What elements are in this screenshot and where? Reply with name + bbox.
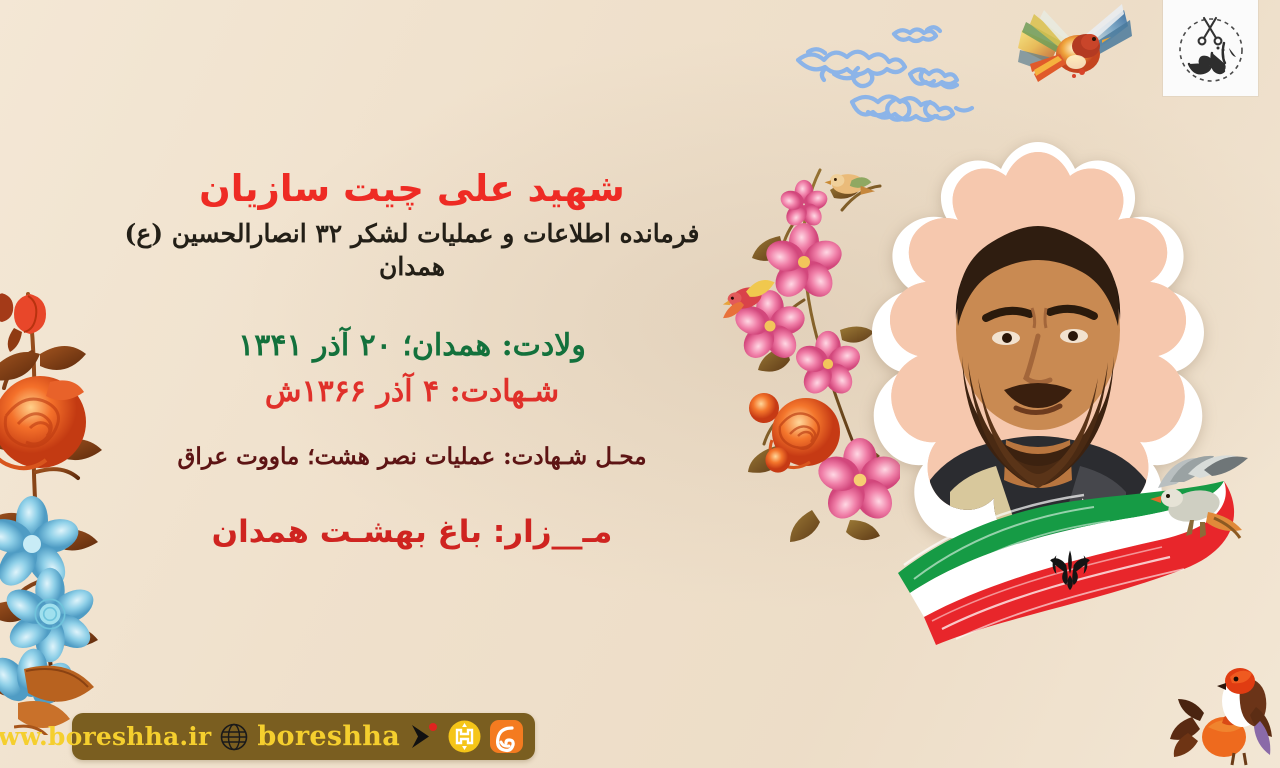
text-block: شهید علی چیت سازیان فرمانده اطلاعات و عم…: [92, 168, 732, 553]
perched-bird-bottom-right-icon: [1168, 655, 1280, 768]
bale-icon[interactable]: [448, 720, 481, 753]
cloud-ornament: [790, 8, 1050, 133]
flag-bird-icon: [1146, 448, 1252, 546]
burial-place-line: مـ__زار: باغ بهشـت همدان: [92, 512, 732, 552]
martyrdom-line: شـهادت: ۴ آذر ۱۳۶۶ش: [92, 372, 732, 412]
martyr-portrait: [838, 140, 1238, 660]
globe-icon: [220, 723, 248, 751]
chevron-play-icon[interactable]: [409, 720, 439, 753]
birth-line: ولادت: همدان؛ ۲۰ آذر ۱۳۴۱: [92, 326, 732, 366]
brand-name: boreshha: [257, 723, 400, 750]
eitaa-icon[interactable]: [490, 720, 523, 753]
place-of-martyrdom-line: محـل شـهادت: عملیات نصر هشت؛ ماووت عراق: [92, 441, 732, 472]
flying-bird-icon: [1012, 2, 1134, 100]
martyr-role: فرمانده اطلاعات و عملیات لشکر ۳۲ انصارال…: [92, 217, 732, 285]
scissors-icon: [1198, 18, 1221, 44]
footer-bar: boreshha www.boreshha.ir: [72, 713, 535, 760]
poster-canvas: شهید علی چیت سازیان فرمانده اطلاعات و عم…: [0, 0, 1280, 768]
page-title: شهید علی چیت سازیان: [92, 168, 732, 211]
website-url[interactable]: www.boreshha.ir: [0, 724, 211, 749]
boreshha-logo[interactable]: [1163, 0, 1258, 96]
dates-group: ولادت: همدان؛ ۲۰ آذر ۱۳۴۱ شـهادت: ۴ آذر …: [92, 326, 732, 411]
